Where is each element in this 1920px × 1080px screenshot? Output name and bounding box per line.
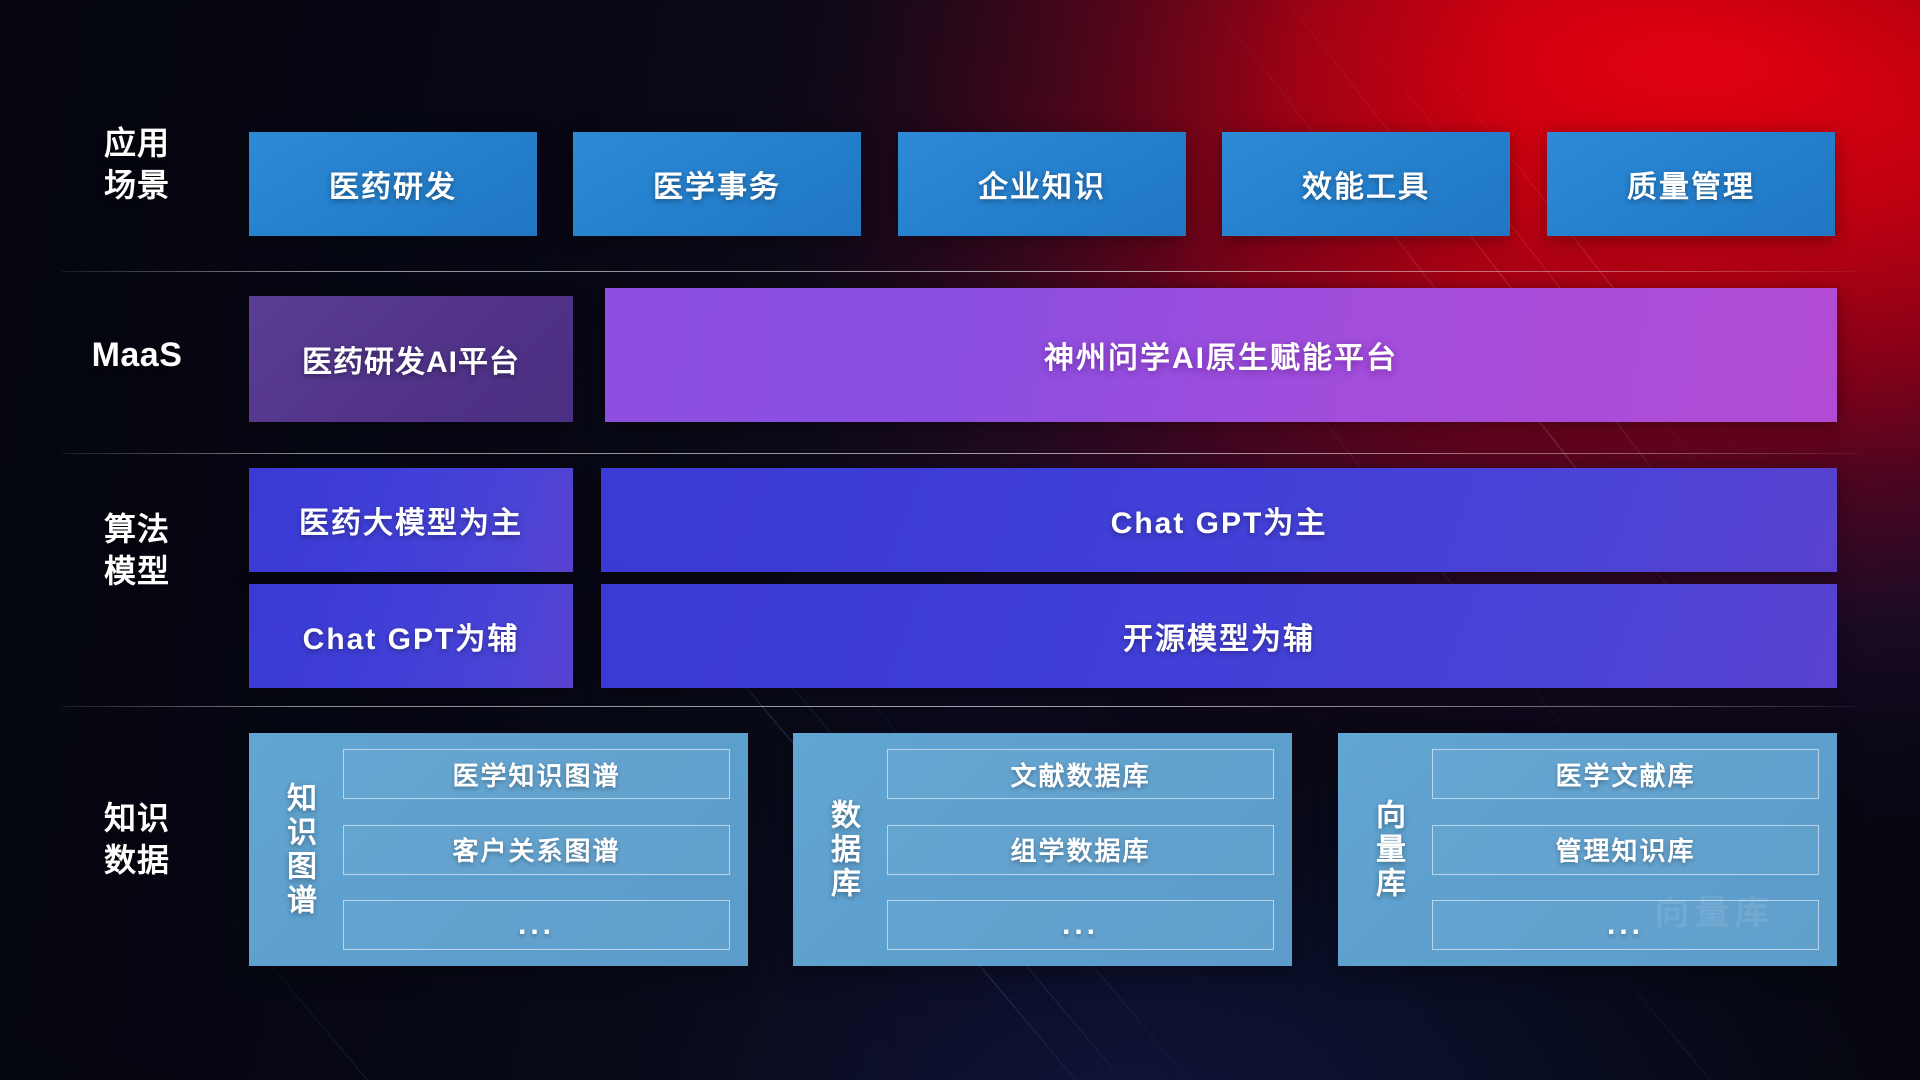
scenario-box-5-label: 质量管理 [1627,162,1755,206]
knowledge-panel-vector[interactable]: 向量库 医学文献库 管理知识库 ... [1338,733,1837,966]
divider-1 [62,271,1858,272]
maas-box-pharma-ai-platform-label: 医药研发AI平台 [302,337,520,381]
scenario-box-2[interactable]: 医学事务 [573,132,861,236]
algo-box-opensource-secondary[interactable]: 开源模型为辅 [601,584,1837,688]
knowledge-panel-graph-item-3[interactable]: ... [343,900,730,950]
algo-box-opensource-secondary-label: 开源模型为辅 [1123,614,1315,658]
row-label-algo-line1: 算法 [62,508,212,550]
row-label-line1: 应用 [62,122,212,164]
knowledge-panel-graph-item-2[interactable]: 客户关系图谱 [343,825,730,875]
row-label-maas: MaaS [62,334,212,376]
scenario-box-4-label: 效能工具 [1302,162,1430,206]
divider-2 [62,453,1858,454]
algo-box-chatgpt-primary[interactable]: Chat GPT为主 [601,468,1837,572]
algo-box-pharma-model-primary-label: 医药大模型为主 [299,498,523,542]
maas-box-pharma-ai-platform[interactable]: 医药研发AI平台 [249,296,573,422]
row-label-line2: 场景 [62,164,212,206]
algo-box-chatgpt-secondary-label: Chat GPT为辅 [303,614,520,658]
knowledge-panel-vector-item-3[interactable]: ... [1432,900,1819,950]
scenario-box-4[interactable]: 效能工具 [1222,132,1510,236]
knowledge-panel-database-item-1[interactable]: 文献数据库 [887,749,1274,799]
knowledge-panel-graph-item-1[interactable]: 医学知识图谱 [343,749,730,799]
algo-box-pharma-model-primary[interactable]: 医药大模型为主 [249,468,573,572]
scenario-box-2-label: 医学事务 [653,162,781,206]
row-label-application-scenario: 应用 场景 [62,122,212,206]
knowledge-panel-database-item-3[interactable]: ... [887,900,1274,950]
scenario-box-1-label: 医药研发 [329,162,457,206]
row-label-knowledge-line2: 数据 [62,839,212,881]
row-label-maas-text: MaaS [62,334,212,376]
maas-box-shenzhou-platform[interactable]: 神州问学AI原生赋能平台 [605,288,1837,422]
scenario-box-5[interactable]: 质量管理 [1547,132,1835,236]
knowledge-panel-vector-item-1[interactable]: 医学文献库 [1432,749,1819,799]
algo-box-chatgpt-primary-label: Chat GPT为主 [1111,498,1328,542]
slide-canvas: 应用 场景 医药研发 医学事务 企业知识 效能工具 质量管理 MaaS 医药研发… [0,0,1920,1080]
divider-3 [62,706,1858,707]
knowledge-panel-graph-title: 知识图谱 [267,749,329,950]
row-label-algorithm-model: 算法 模型 [62,508,212,592]
knowledge-panel-graph[interactable]: 知识图谱 医学知识图谱 客户关系图谱 ... [249,733,748,966]
scenario-box-1[interactable]: 医药研发 [249,132,537,236]
knowledge-panel-vector-item-2[interactable]: 管理知识库 [1432,825,1819,875]
scenario-box-3[interactable]: 企业知识 [898,132,1186,236]
scenario-box-3-label: 企业知识 [978,162,1106,206]
maas-box-shenzhou-platform-label: 神州问学AI原生赋能平台 [1044,333,1398,377]
knowledge-panel-database-title: 数据库 [811,749,873,950]
algo-box-chatgpt-secondary[interactable]: Chat GPT为辅 [249,584,573,688]
knowledge-panel-database[interactable]: 数据库 文献数据库 组学数据库 ... [793,733,1292,966]
row-label-knowledge-data: 知识 数据 [62,797,212,881]
knowledge-panel-database-item-2[interactable]: 组学数据库 [887,825,1274,875]
knowledge-panel-vector-title: 向量库 [1356,749,1418,950]
row-label-knowledge-line1: 知识 [62,797,212,839]
row-label-algo-line2: 模型 [62,550,212,592]
